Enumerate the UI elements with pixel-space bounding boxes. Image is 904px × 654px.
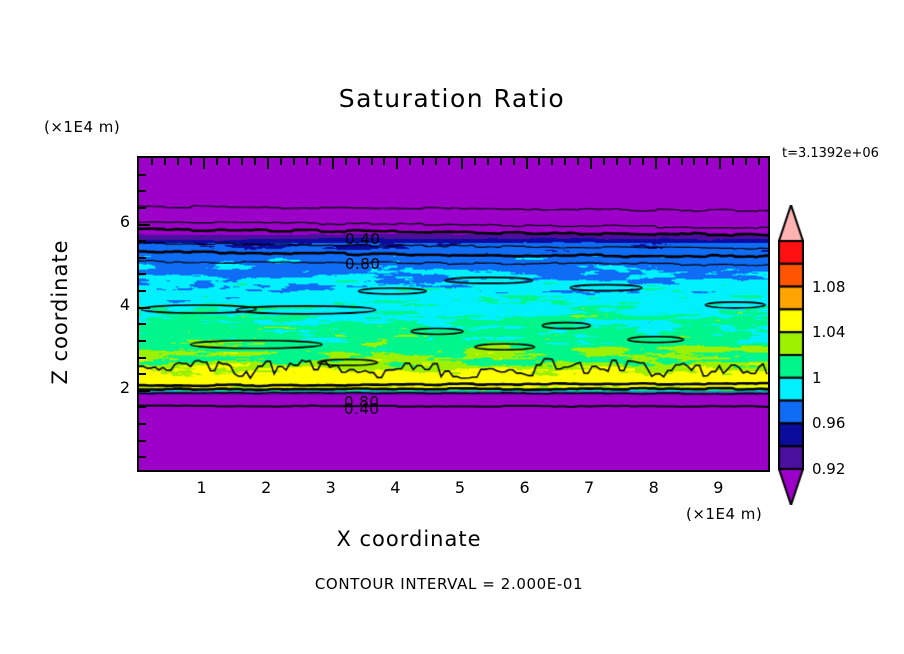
contour-label-3: 0.40 [344,400,379,418]
colorbar-label-1.04: 1.04 [812,323,845,341]
x-tick-label-8: 8 [634,478,674,497]
x-tick-label-5: 5 [440,478,480,497]
x-tick-label-6: 6 [505,478,545,497]
contour-interval-note: CONTOUR INTERVAL = 2.000E-01 [0,575,904,593]
y-axis-title: Z coordinate [48,202,72,422]
y-axis-unit-label: (×1E4 m) [44,118,120,136]
contour-plot-area [137,156,770,472]
x-tick-label-2: 2 [246,478,286,497]
contour-interval-text: CONTOUR INTERVAL = 2.000E-01 [315,575,583,593]
x-tick-label-3: 3 [311,478,351,497]
x-tick-label-7: 7 [569,478,609,497]
x-axis-title-text: X coordinate [336,527,481,551]
colorbar-label-1.08: 1.08 [812,278,845,296]
y-tick-label-6: 6 [104,212,130,231]
colorbar-tick-labels: 1.081.0410.960.92 [812,205,902,505]
y-tick-label-4: 4 [104,295,130,314]
colorbar-label-0.92: 0.92 [812,460,845,478]
chart-title: Saturation Ratio [0,84,904,113]
y-tick-label-2: 2 [104,378,130,397]
time-annotation: t=3.1392e+06 [782,146,879,161]
contour-label-1: 0.80 [345,255,380,273]
x-tick-label-4: 4 [375,478,415,497]
contour-label-0: 0.40 [345,230,380,248]
x-tick-label-9: 9 [698,478,738,497]
x-tick-label-1: 1 [182,478,222,497]
colorbar-label-1: 1 [812,369,822,387]
colorbar-label-0.96: 0.96 [812,414,845,432]
figure-canvas: Saturation Ratio (×1E4 m) t=3.1392e+06 0… [0,0,904,654]
x-axis-title: X coordinate [0,527,904,551]
x-axis-unit-label: (×1E4 m) [686,505,762,523]
colorbar [778,205,804,505]
contour-lines-overlay [139,158,768,470]
